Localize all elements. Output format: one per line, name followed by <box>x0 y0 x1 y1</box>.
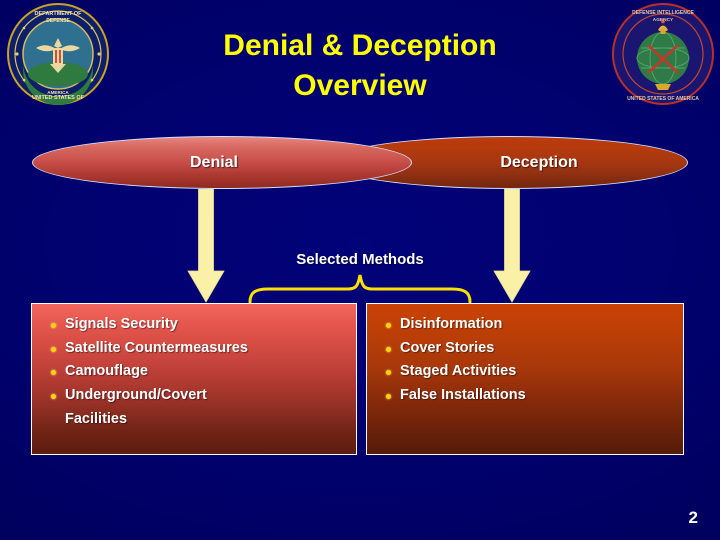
methods-box-deception: Disinformation Cover Stories Staged Acti… <box>366 303 684 455</box>
venn-diagram: Deception Denial <box>0 130 720 200</box>
ellipse-denial[interactable]: Denial <box>32 136 412 189</box>
svg-text:DEFENSE INTELLIGENCE: DEFENSE INTELLIGENCE <box>632 10 694 16</box>
deception-methods-list: Disinformation Cover Stories Staged Acti… <box>385 313 673 408</box>
ellipse-denial-label: Denial <box>190 154 238 172</box>
slide-canvas: DEPARTMENT OF UNITED STATES OF DEFENSE A… <box>0 0 720 540</box>
list-item: Disinformation <box>385 313 673 337</box>
svg-text:AMERICA: AMERICA <box>47 90 69 95</box>
list-item: Staged Activities <box>385 360 673 384</box>
defense-intelligence-agency-seal-icon: DEFENSE INTELLIGENCE UNITED STATES OF AM… <box>611 2 715 106</box>
list-item: Satellite Countermeasures <box>50 337 346 361</box>
list-item: False Installations <box>385 384 673 408</box>
denial-methods-list: Signals Security Satellite Countermeasur… <box>50 313 346 431</box>
list-item: Camouflage <box>50 360 346 384</box>
list-item: Signals Security <box>50 313 346 337</box>
svg-text:UNITED STATES OF AMERICA: UNITED STATES OF AMERICA <box>627 96 699 102</box>
ellipse-deception-label: Deception <box>500 154 577 172</box>
page-title: Denial & Deception Overview <box>120 26 600 106</box>
svg-text:DEFENSE: DEFENSE <box>46 18 70 24</box>
down-arrow-deception-icon <box>492 189 532 308</box>
svg-text:UNITED STATES OF: UNITED STATES OF <box>32 95 85 101</box>
list-item: Underground/Covert Facilities <box>50 384 346 431</box>
selected-methods-label: Selected Methods <box>230 251 490 268</box>
methods-box-denial: Signals Security Satellite Countermeasur… <box>31 303 357 455</box>
down-arrow-denial-icon <box>186 189 226 308</box>
page-number: 2 <box>689 508 698 528</box>
svg-text:AGENCY: AGENCY <box>653 17 674 23</box>
svg-text:DEPARTMENT OF: DEPARTMENT OF <box>35 11 83 17</box>
list-item: Cover Stories <box>385 337 673 361</box>
department-of-defense-seal-icon: DEPARTMENT OF UNITED STATES OF DEFENSE A… <box>6 2 110 106</box>
